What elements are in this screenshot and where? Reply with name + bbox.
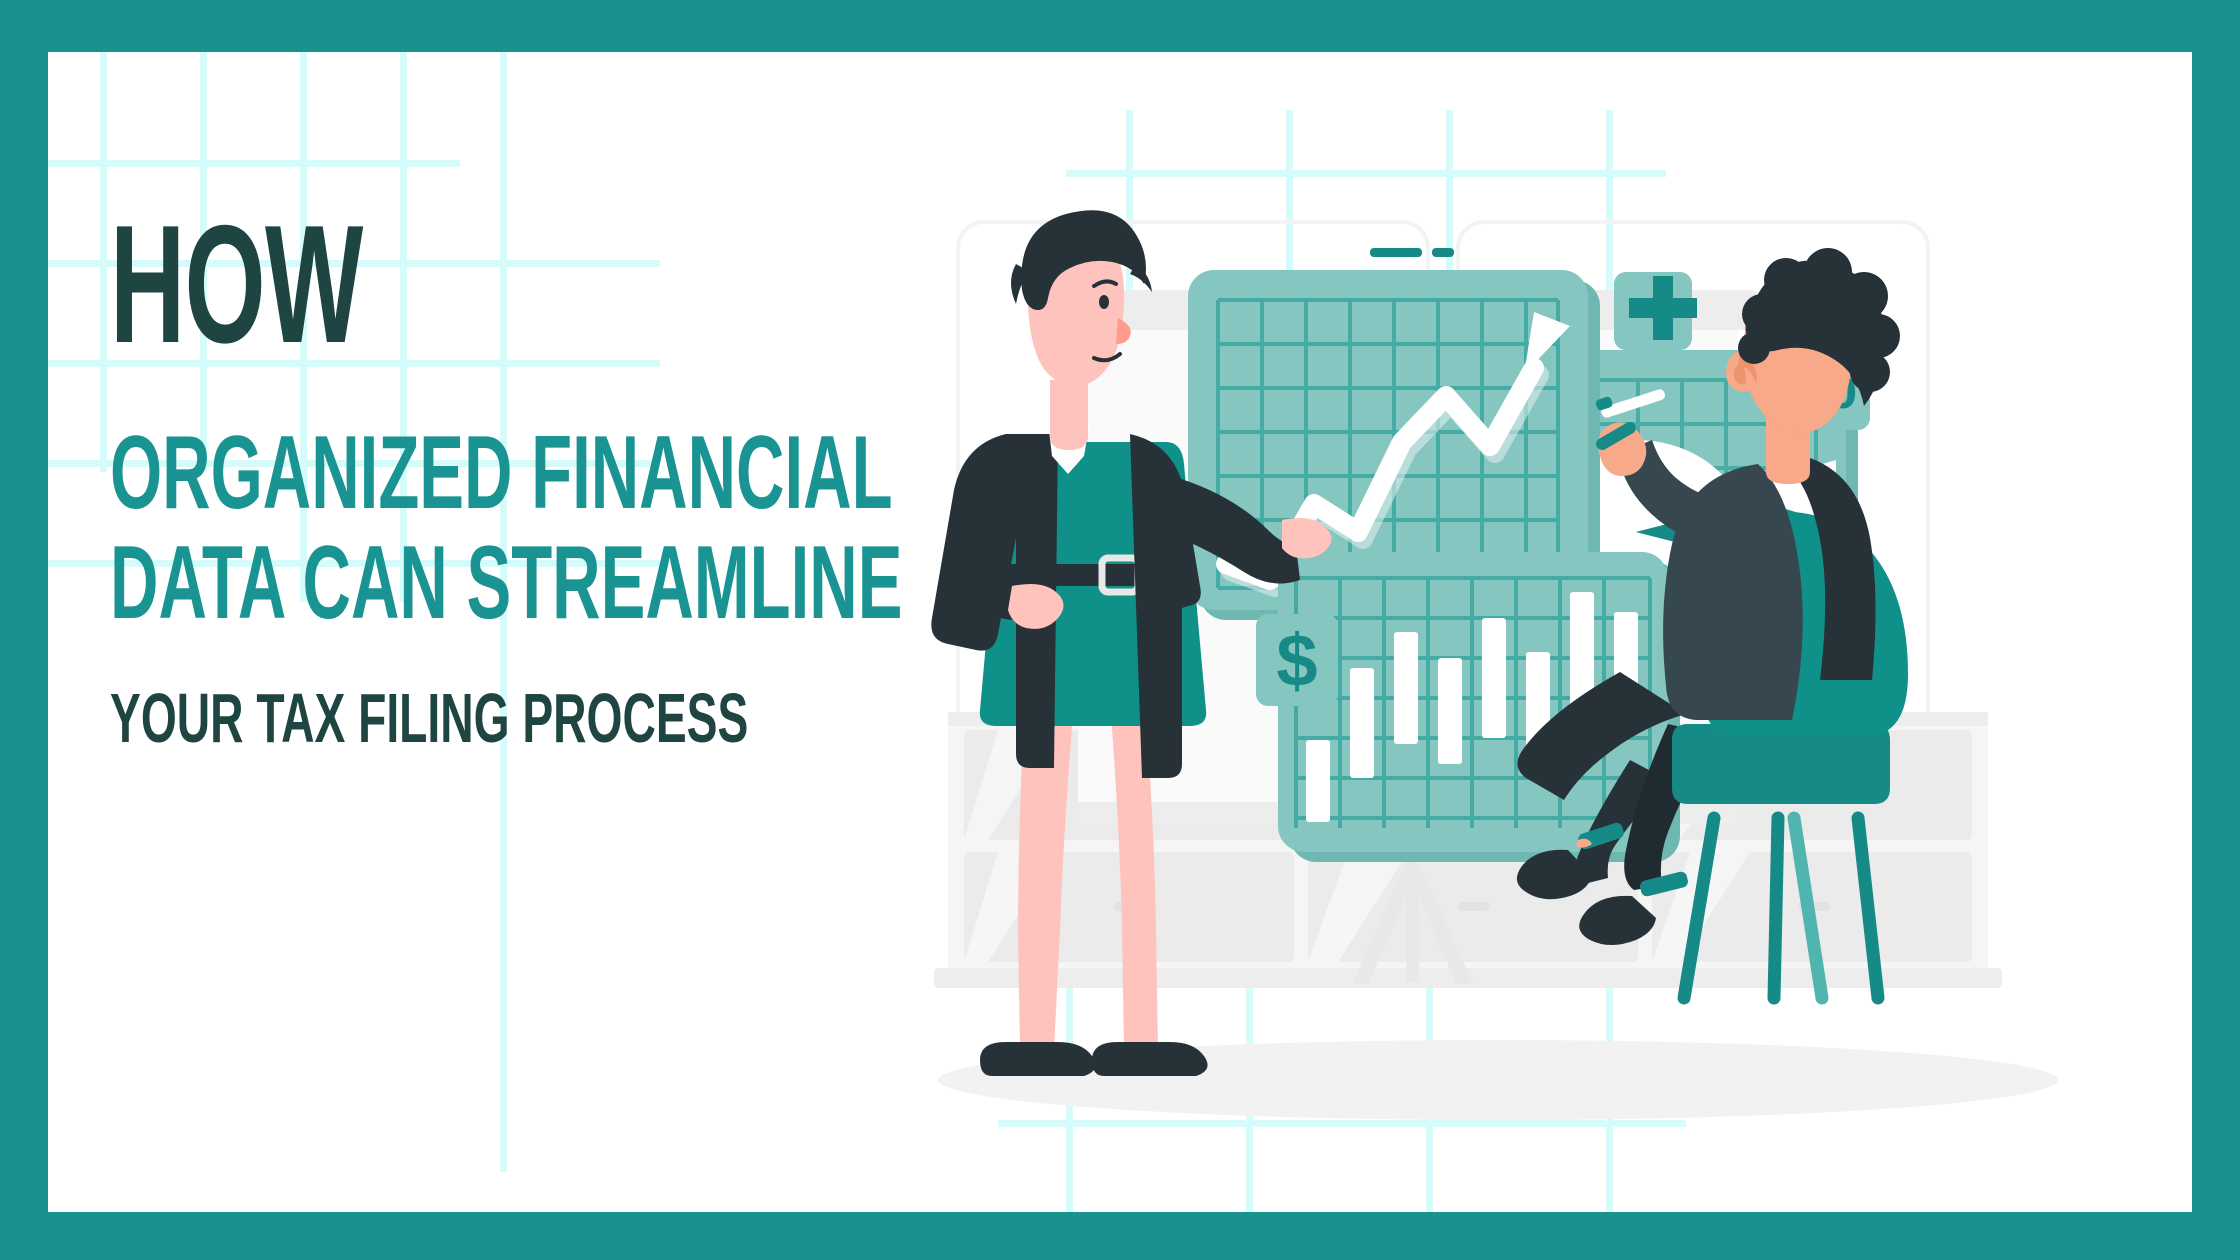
dollar-badge: $ bbox=[1256, 614, 1338, 706]
banner-frame: HOW ORGANIZED FINANCIAL DATA CAN STREAML… bbox=[0, 0, 2240, 1260]
banner-canvas: HOW ORGANIZED FINANCIAL DATA CAN STREAML… bbox=[48, 52, 2192, 1212]
headline-block: HOW ORGANIZED FINANCIAL DATA CAN STREAML… bbox=[110, 212, 1010, 757]
illustration-financial-presentation: % $ bbox=[878, 112, 2178, 1202]
svg-text:$: $ bbox=[1276, 619, 1317, 702]
headline-line-1: ORGANIZED FINANCIAL bbox=[110, 418, 691, 528]
headline-wrap: ORGANIZED FINANCIAL DATA CAN STREAMLINE bbox=[110, 418, 1010, 638]
plus-badge bbox=[1614, 272, 1697, 350]
subheadline-wrap: YOUR TAX FILING PROCESS bbox=[110, 680, 1010, 757]
subheadline-line-1: YOUR TAX FILING PROCESS bbox=[110, 680, 704, 757]
page-title-kicker: HOW bbox=[110, 212, 668, 356]
kicker-wrap: HOW bbox=[110, 212, 1010, 364]
headline-line-2: DATA CAN STREAMLINE bbox=[110, 528, 691, 638]
